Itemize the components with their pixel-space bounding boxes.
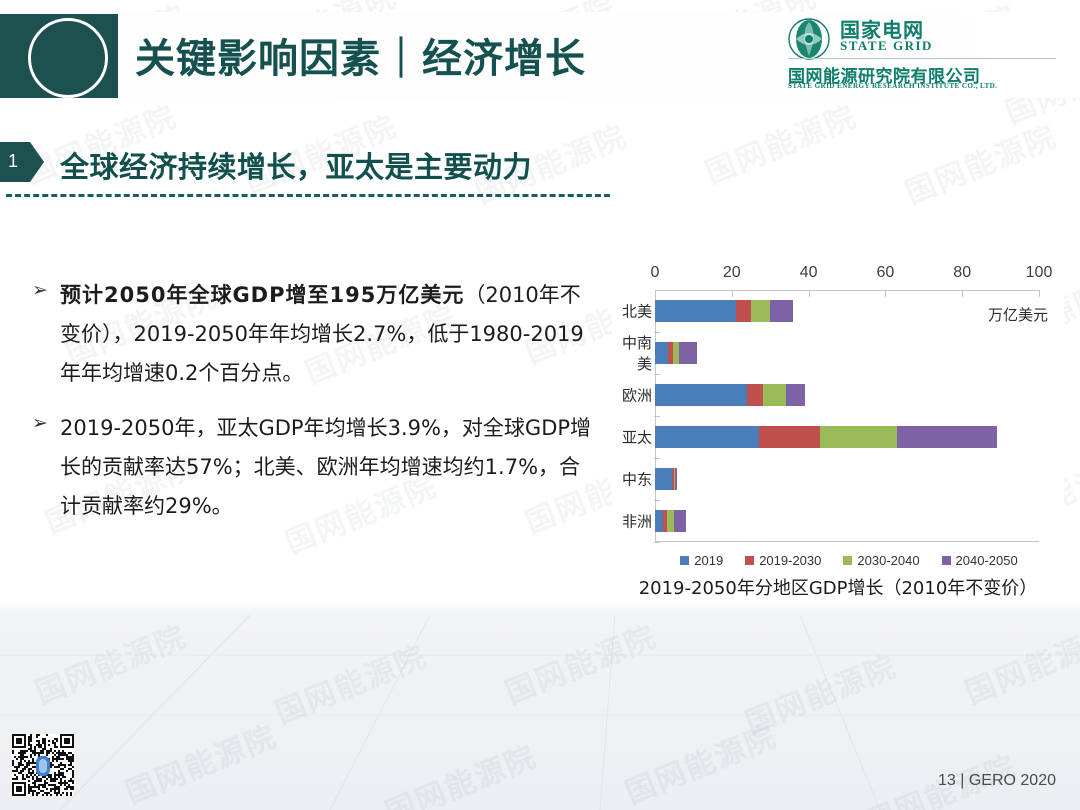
chart-bar-row [655, 426, 1039, 448]
section-heading: 1 全球经济持续增长，亚太是主要动力 [0, 142, 620, 204]
chart-legend-label: 2040-2050 [956, 553, 1018, 568]
chart-category-label: 中东 [612, 469, 652, 490]
chart-bar-segment [655, 510, 663, 532]
chart-bar-row [655, 468, 1039, 490]
chart-x-tick-mark [1039, 290, 1040, 297]
chart-y-tick-mark [654, 416, 660, 417]
chart-legend-swatch [680, 556, 689, 565]
chart-y-tick-mark [654, 374, 660, 375]
logo-en-secondary: STATE GRID ENERGY RESEARCH INSTITUTE CO.… [788, 82, 997, 90]
section-title: 全球经济持续增长，亚太是主要动力 [60, 144, 532, 186]
chart-plot-area [655, 290, 1039, 542]
section-dashed-rule [6, 194, 610, 197]
chart-bar-segment [655, 342, 668, 364]
chart-bar-row [655, 300, 1039, 322]
chart-x-tick-label: 80 [953, 264, 971, 282]
chart-bar-segment [763, 384, 786, 406]
chart-x-tick-label: 40 [800, 264, 818, 282]
chart-bar-segment [751, 300, 770, 322]
desk-perspective-lines [0, 615, 1080, 810]
chart-bar-segment [655, 426, 759, 448]
chart-y-tick-mark [654, 458, 660, 459]
section-number: 1 [8, 151, 18, 172]
bullet-arrow-icon: ➢ [32, 279, 48, 301]
chart-legend-swatch [942, 556, 951, 565]
header-circle-ornament [28, 18, 108, 98]
chart-x-tick-mark [809, 290, 810, 297]
chart-x-tick-mark [655, 290, 656, 297]
chart-legend-label: 2030-2040 [857, 553, 919, 568]
chart-x-tick-label: 60 [876, 264, 894, 282]
section-number-badge [0, 142, 44, 182]
chart-x-tick-label: 20 [723, 264, 741, 282]
chart-legend-item: 2040-2050 [942, 553, 1018, 568]
page-number: 13 | GERO 2020 [938, 772, 1056, 790]
chart-x-tick-label: 0 [651, 264, 660, 282]
chart-category-label: 中南美 [612, 332, 652, 374]
chart-canvas: 020406080100 万亿美元 20192019-20302030-2040… [612, 262, 1064, 572]
chart-legend-item: 2030-2040 [843, 553, 919, 568]
bullet-body-text: 2019-2050年，亚太GDP年均增长3.9%，对全球GDP增长的贡献率达57… [60, 416, 591, 518]
chart-category-label: 非洲 [612, 511, 652, 532]
chart-legend-label: 2019-2030 [759, 553, 821, 568]
chart-bar-segment [655, 300, 736, 322]
chart-bar-segment [655, 468, 672, 490]
chart-legend-swatch [745, 556, 754, 565]
chart-y-tick-mark [654, 542, 660, 543]
logo-divider [788, 58, 1056, 59]
state-grid-emblem-icon [788, 18, 830, 60]
chart-caption: 2019-2050年分地区GDP增长（2010年不变价） [612, 574, 1064, 600]
chart-bar-segment [667, 510, 674, 532]
chart-bar-segment [770, 300, 793, 322]
chart-bar-segment [679, 342, 697, 364]
list-item: ➢ 预计2050年全球GDP增至195万亿美元（2010年不变价），2019-2… [28, 276, 594, 393]
chart-x-axis-labels: 020406080100 [612, 264, 1064, 286]
bullet-arrow-icon: ➢ [32, 412, 48, 434]
chart-x-tick-mark [885, 290, 886, 297]
chart-bar-segment [674, 510, 686, 532]
chart-x-tick-mark [962, 290, 963, 297]
chart-bar-segment [655, 384, 747, 406]
chart-bar-row [655, 510, 1039, 532]
chart-bar-segment [747, 384, 762, 406]
chart-legend-item: 2019 [680, 553, 723, 568]
chart-legend: 20192019-20302030-20402040-2050 [634, 550, 1064, 570]
chart-y-tick-mark [654, 332, 660, 333]
chart-x-tick-mark [732, 290, 733, 297]
chart-bar-segment [897, 426, 997, 448]
chart-x-tick-label: 100 [1026, 264, 1053, 282]
qr-code-icon[interactable] [12, 734, 74, 796]
chart-category-label: 欧洲 [612, 385, 652, 406]
chart-bar-segment [786, 384, 805, 406]
company-logo: 国家电网 STATE GRID 国网能源研究院有限公司 STATE GRID E… [788, 12, 1058, 92]
chart-y-tick-mark [654, 500, 660, 501]
list-item: ➢ 2019-2050年，亚太GDP年均增长3.9%，对全球GDP增长的贡献率达… [28, 409, 594, 526]
chart-bar-segment [675, 468, 677, 490]
bullet-list: ➢ 预计2050年全球GDP增至195万亿美元（2010年不变价），2019-2… [28, 276, 594, 542]
bullet-strong-text: 预计2050年全球GDP增至195万亿美元 [60, 283, 464, 307]
chart-bar-segment [820, 426, 897, 448]
chart-legend-swatch [843, 556, 852, 565]
chart-legend-item: 2019-2030 [745, 553, 821, 568]
chart-category-label: 亚太 [612, 427, 652, 448]
page-title: 关键影响因素｜经济增长 [135, 26, 586, 84]
chart-bar-row [655, 384, 1039, 406]
chart-category-label: 北美 [612, 301, 652, 322]
chart-bar-segment [759, 426, 820, 448]
chart-bar-row [655, 342, 1039, 364]
chart-legend-label: 2019 [694, 553, 723, 568]
chart-bar-segment [736, 300, 751, 322]
gdp-growth-chart: 020406080100 万亿美元 20192019-20302030-2040… [612, 262, 1064, 602]
logo-en-primary: STATE GRID [840, 38, 933, 54]
